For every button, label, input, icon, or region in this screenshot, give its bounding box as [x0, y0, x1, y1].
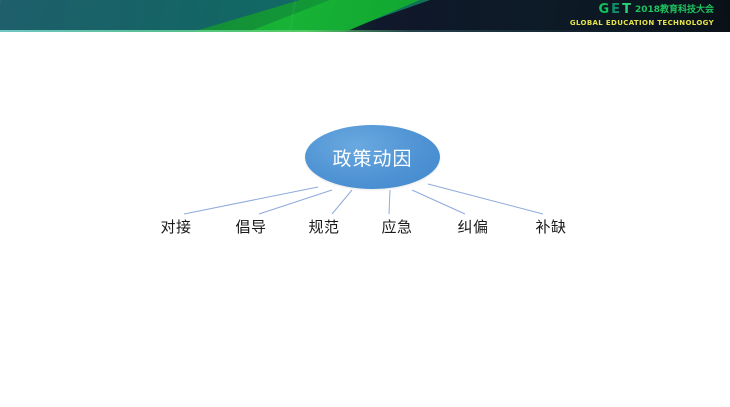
logo-letter-t: T	[622, 3, 631, 16]
policy-driver-diagram: 政策动因 对接倡导规范应急纠偏补缺	[0, 32, 730, 407]
leaf-node-6[interactable]: 补缺	[535, 216, 566, 237]
connector-lines	[0, 32, 730, 407]
connector-line	[332, 190, 352, 214]
connector-line	[412, 190, 465, 214]
logo-subtitle: GLOBAL EDUCATION TECHNOLOGY	[570, 19, 714, 27]
center-node-label: 政策动因	[332, 144, 412, 171]
leaf-node-4[interactable]: 应急	[381, 216, 412, 237]
leaf-node-5[interactable]: 纠偏	[457, 216, 488, 237]
logo-letter-e: E	[611, 3, 620, 16]
center-node-policy-driver[interactable]: 政策动因	[305, 125, 440, 189]
connector-line	[184, 187, 318, 214]
connector-line	[259, 190, 332, 214]
slide-canvas: G E T 2018教育科技大会 GLOBAL EDUCATION TECHNO…	[0, 0, 730, 407]
logo-primary-row: G E T 2018教育科技大会	[570, 2, 714, 16]
leaf-node-3[interactable]: 规范	[308, 216, 339, 237]
connector-line	[389, 190, 390, 214]
leaf-node-1[interactable]: 对接	[160, 216, 191, 237]
connector-line	[428, 184, 543, 214]
get-logo: G E T 2018教育科技大会 GLOBAL EDUCATION TECHNO…	[570, 2, 714, 27]
get-wordmark-icon: G E T	[599, 3, 631, 16]
logo-letter-g: G	[599, 3, 610, 16]
leaf-node-2[interactable]: 倡导	[235, 216, 266, 237]
logo-chinese-title: 2018教育科技大会	[635, 5, 714, 16]
header-banner: G E T 2018教育科技大会 GLOBAL EDUCATION TECHNO…	[0, 0, 730, 32]
